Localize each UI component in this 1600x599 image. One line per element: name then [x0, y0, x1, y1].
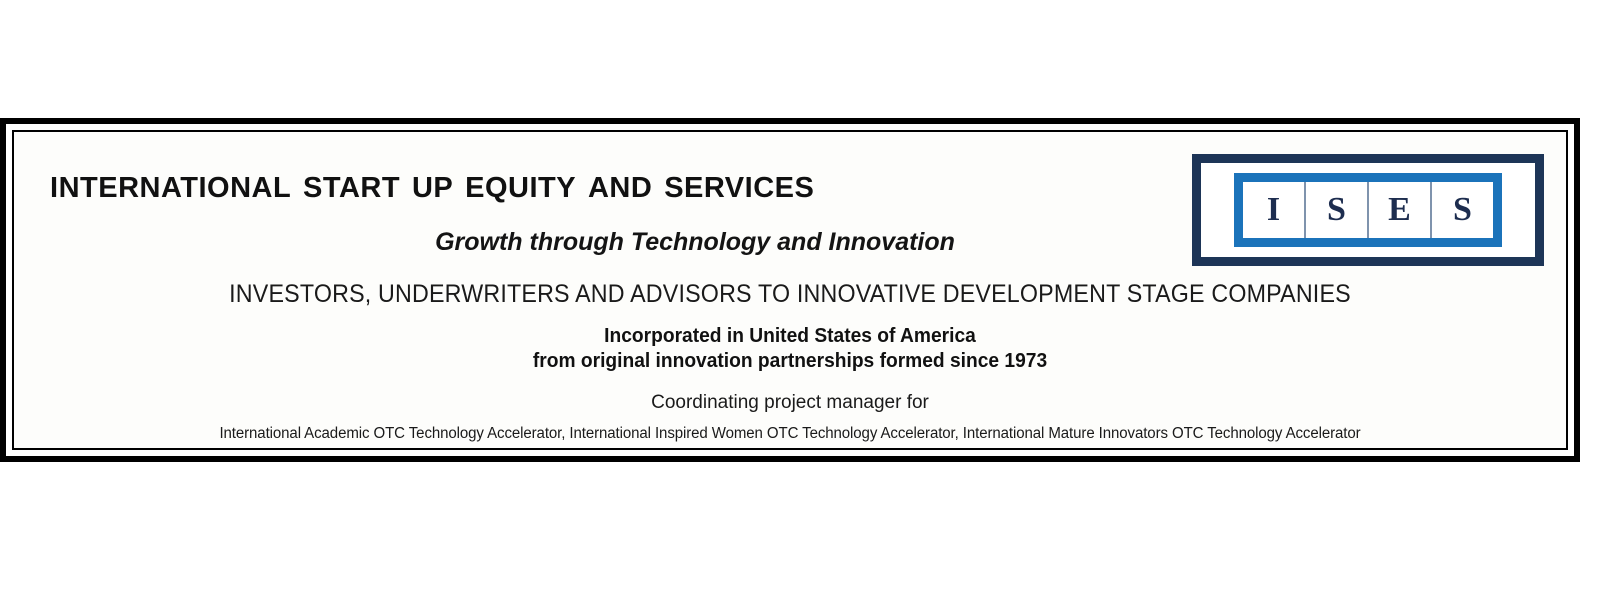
- incorporation-line-2: from original innovation partnerships fo…: [45, 349, 1535, 374]
- accelerator-programs-line: International Academic OTC Technology Ac…: [43, 425, 1537, 443]
- ises-logo: I S E S: [1192, 154, 1544, 266]
- incorporation-block: Incorporated in United States of America…: [14, 324, 1566, 374]
- letterhead-inner-frame: International Start up Equity and Servic…: [12, 130, 1568, 450]
- logo-letter-cell-3: E: [1369, 182, 1432, 238]
- incorporation-line-1: Incorporated in United States of America: [45, 324, 1535, 349]
- logo-letter-cell-1: I: [1243, 182, 1306, 238]
- logo-letter-cell-2: S: [1306, 182, 1369, 238]
- company-subheading: INVESTORS, UNDERWRITERS AND ADVISORS TO …: [68, 280, 1511, 309]
- letterhead-content: International Start up Equity and Servic…: [14, 132, 1566, 448]
- logo-letter-cell-4: S: [1432, 182, 1493, 238]
- company-title: International Start up Equity and Servic…: [50, 160, 814, 207]
- ises-logo-inner-white: I S E S: [1206, 168, 1530, 252]
- letterhead-outer-frame: International Start up Equity and Servic…: [0, 118, 1580, 462]
- ises-logo-letter-cells: I S E S: [1234, 173, 1502, 247]
- coordinating-label: Coordinating project manager for: [14, 392, 1566, 414]
